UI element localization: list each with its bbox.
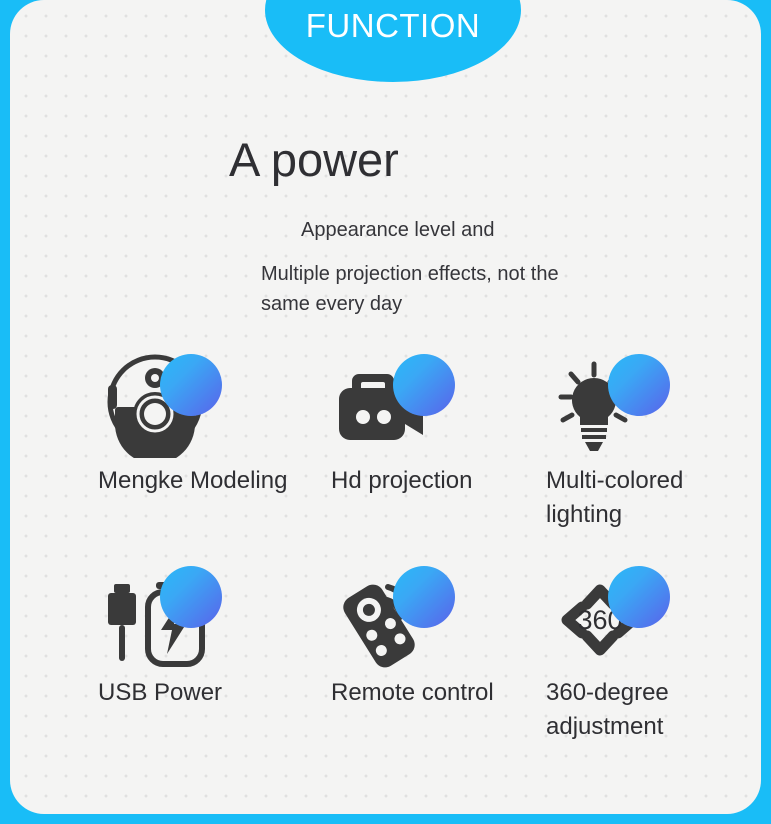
feature-row: USB Power bbox=[10, 564, 761, 744]
gradient-blob bbox=[393, 354, 455, 416]
video-camera-icon bbox=[331, 352, 461, 458]
gradient-blob bbox=[608, 566, 670, 628]
gradient-blob bbox=[160, 566, 222, 628]
gradient-blob bbox=[393, 566, 455, 628]
gradient-blob bbox=[608, 354, 670, 416]
feature-panel: FUNCTION A power Appearance level and Mu… bbox=[10, 0, 761, 814]
feature-item-remote-control: Remote control bbox=[331, 564, 546, 744]
feature-item-usb-power: USB Power bbox=[98, 564, 313, 744]
feature-label: USB Power bbox=[98, 676, 298, 710]
feature-label: Mengke Modeling bbox=[98, 464, 298, 498]
feature-grid: Mengke Modeling Hd projection bbox=[10, 352, 761, 744]
feature-label: Multi-colored lighting bbox=[546, 464, 746, 532]
projector-head-icon bbox=[98, 352, 228, 458]
subtitle-line-2: Multiple projection effects, not the sam… bbox=[261, 259, 581, 319]
feature-label: Hd projection bbox=[331, 464, 531, 498]
remote-control-icon bbox=[331, 564, 461, 670]
usb-battery-icon bbox=[98, 564, 228, 670]
light-bulb-icon bbox=[546, 352, 676, 458]
function-badge: FUNCTION bbox=[265, 0, 521, 82]
feature-label: Remote control bbox=[331, 676, 531, 710]
rotate-360-icon: 360 ° bbox=[546, 564, 676, 670]
subtitle-line-1: Appearance level and bbox=[301, 219, 494, 242]
gradient-blob bbox=[160, 354, 222, 416]
feature-item-hd-projection: Hd projection bbox=[331, 352, 546, 532]
feature-row: Mengke Modeling Hd projection bbox=[10, 352, 761, 532]
feature-label: 360-degree adjustment bbox=[546, 676, 746, 744]
feature-item-mengke-modeling: Mengke Modeling bbox=[98, 352, 313, 532]
page-title: A power bbox=[229, 132, 399, 187]
function-badge-label: FUNCTION bbox=[306, 9, 480, 82]
feature-item-360-adjustment: 360 ° 360-degree adjustment bbox=[546, 564, 761, 744]
feature-item-multi-colored-lighting: Multi-colored lighting bbox=[546, 352, 761, 532]
